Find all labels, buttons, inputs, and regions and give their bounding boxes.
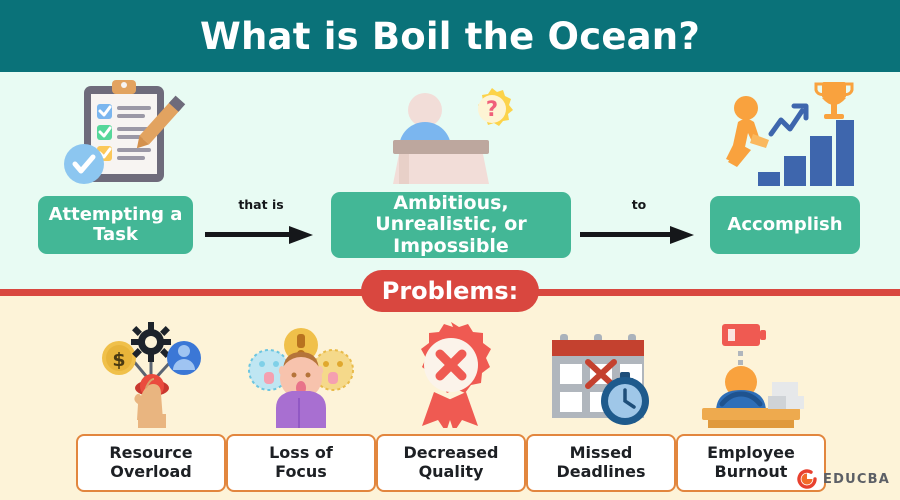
problem-label-line2: Overload [110, 462, 192, 481]
problem-card-resource-overload[interactable]: $ [76, 320, 226, 492]
person-desk-question-gear-icon: ? [385, 78, 517, 190]
problem-card-missed-deadlines[interactable]: Missed Deadlines [526, 320, 676, 492]
flow-step-accomplish[interactable]: Accomplish [710, 196, 860, 254]
flow-step-label: Accomplish [727, 215, 842, 235]
problem-label-line1: Decreased [404, 443, 499, 462]
hand-pressing-button-icon: $ [76, 320, 226, 428]
rosette-x-badge-icon [376, 320, 526, 428]
problem-label-line1: Loss of [269, 443, 333, 462]
person-climbing-bar-chart-trophy-icon [716, 78, 856, 190]
problem-label: Missed Deadlines [526, 434, 676, 492]
problem-label: Decreased Quality [376, 434, 526, 492]
right-arrow-icon [580, 225, 698, 245]
svg-text:?: ? [486, 97, 498, 121]
connector-that-is: that is [205, 197, 317, 253]
flow-step-label: Attempting a Task [38, 205, 193, 245]
problem-label-line2: Burnout [715, 462, 788, 481]
header-bar: What is Boil the Ocean? [0, 0, 900, 72]
calendar-x-stopwatch-icon [526, 320, 676, 428]
connector-label: to [580, 197, 698, 212]
educba-logo-text: EDUCBA [823, 472, 890, 487]
svg-text:$: $ [112, 349, 125, 371]
right-arrow-icon [205, 225, 317, 245]
educba-branding[interactable]: EDUCBA [796, 468, 890, 490]
problem-card-employee-burnout[interactable]: Employee Burnout [676, 320, 826, 492]
distracted-person-icon [226, 320, 376, 428]
connector-to: to [580, 197, 698, 253]
problem-label-line1: Employee [707, 443, 795, 462]
flow-step-label: Ambitious, Unrealistic, or Impossible [331, 193, 571, 257]
clipboard-checklist-icon [62, 78, 202, 190]
problem-label: Loss of Focus [226, 434, 376, 492]
flow-step-ambitious[interactable]: Ambitious, Unrealistic, or Impossible [331, 192, 571, 258]
problems-banner-label: Problems: [382, 277, 519, 305]
educba-swoosh-logo-icon [796, 468, 818, 490]
problem-label: Resource Overload [76, 434, 226, 492]
problem-label-line1: Resource [109, 443, 192, 462]
problem-label-line2: Deadlines [556, 462, 645, 481]
tired-person-low-battery-icon [676, 320, 826, 428]
page-title: What is Boil the Ocean? [200, 15, 700, 58]
problem-label-line2: Focus [275, 462, 327, 481]
infographic-poster: What is Boil the Ocean? [0, 0, 900, 500]
connector-label: that is [205, 197, 317, 212]
problem-card-loss-of-focus[interactable]: Loss of Focus [226, 320, 376, 492]
problem-label-line1: Missed [570, 443, 633, 462]
problem-label-line2: Quality [419, 462, 484, 481]
problems-banner: Problems: [361, 270, 539, 312]
flow-step-attempting-task[interactable]: Attempting a Task [38, 196, 193, 254]
problem-card-decreased-quality[interactable]: Decreased Quality [376, 320, 526, 492]
